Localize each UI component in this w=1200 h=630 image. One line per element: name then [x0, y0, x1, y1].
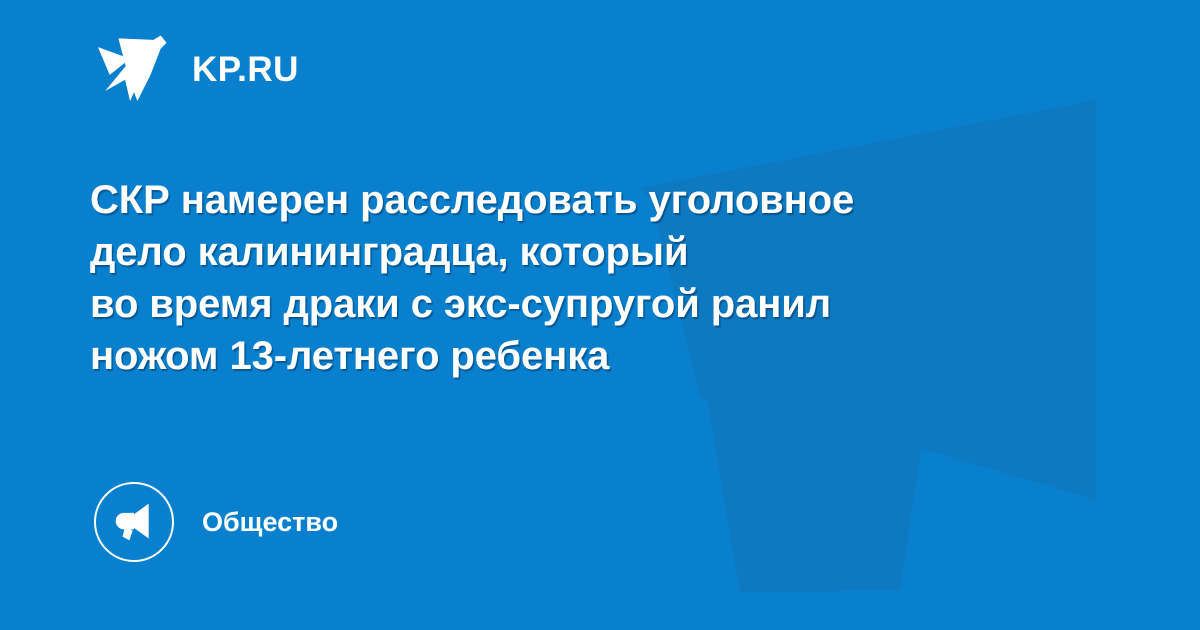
swallow-bird-icon [96, 34, 170, 104]
headline-line-2: дело калининградца, который [90, 226, 1090, 278]
brand-logo[interactable]: KP.RU [96, 34, 299, 104]
megaphone-icon [112, 500, 156, 544]
category-icon-circle [94, 482, 174, 562]
headline-line-4: ножом 13-летнего ребенка [90, 330, 1090, 382]
headline-line-1: СКР намерен расследовать уголовное [90, 174, 1090, 226]
category-label: Общество [202, 509, 338, 536]
page-title: СКР намерен расследовать уголовное дело … [90, 174, 1090, 382]
headline-line-3: во время драки с экс-супругой ранил [90, 278, 1090, 330]
social-share-card: KP.RU СКР намерен расследовать уголовное… [0, 0, 1200, 630]
brand-name: KP.RU [192, 52, 299, 87]
category-badge[interactable]: Общество [94, 482, 338, 562]
